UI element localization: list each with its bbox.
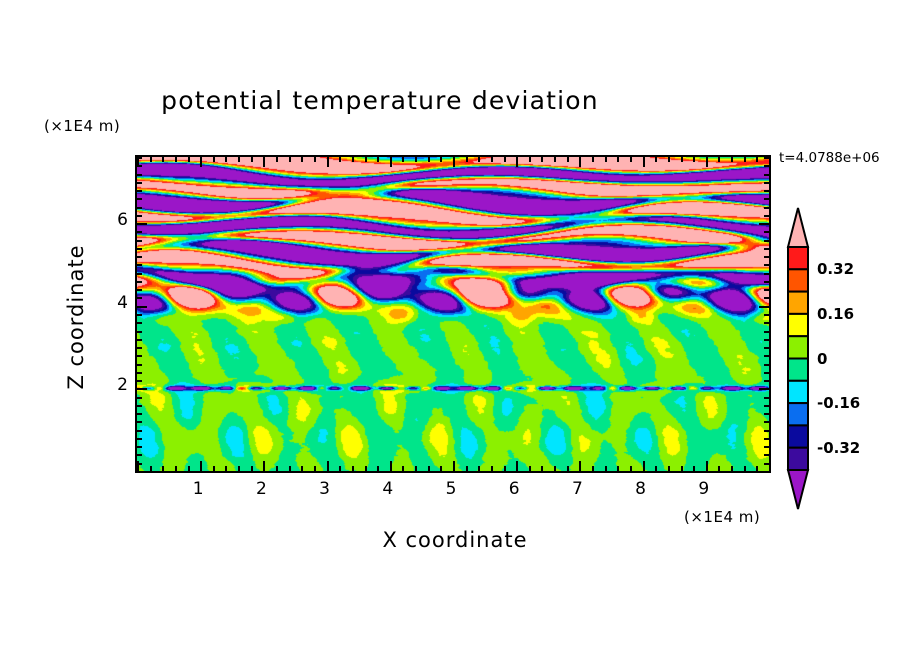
axis-tick (402, 466, 404, 471)
axis-tick (764, 454, 769, 456)
axis-tick (478, 466, 480, 471)
axis-tick (764, 430, 769, 432)
axis-tick (137, 264, 142, 266)
axis-tick (764, 322, 769, 324)
axis-tick (541, 157, 543, 162)
axis-tick (175, 157, 177, 162)
axis-tick (764, 446, 769, 448)
axis-tick (764, 240, 769, 242)
axis-tick (579, 157, 581, 167)
axis-tick (137, 273, 142, 275)
axis-tick (764, 215, 769, 217)
axis-tick (731, 157, 733, 162)
axis-tick (377, 466, 379, 471)
axis-tick (213, 157, 215, 162)
axis-tick (352, 466, 354, 471)
x-tick-label: 5 (436, 479, 466, 499)
axis-tick (137, 347, 142, 349)
axis-tick (137, 446, 142, 448)
axis-tick (764, 207, 769, 209)
axis-tick (137, 454, 142, 456)
axis-tick (693, 157, 695, 162)
axis-tick (759, 306, 769, 308)
axis-tick (137, 198, 142, 200)
x-axis-title: X coordinate (265, 528, 645, 552)
axis-tick (541, 466, 543, 471)
axis-tick (554, 466, 556, 471)
axis-tick (764, 463, 769, 465)
axis-tick (137, 174, 142, 176)
axis-tick (681, 466, 683, 471)
axis-tick (276, 466, 278, 471)
axis-tick (137, 215, 142, 217)
axis-tick (630, 157, 632, 162)
colorbar-tick-label: 0 (817, 350, 827, 368)
axis-tick (251, 466, 253, 471)
axis-tick (655, 466, 657, 471)
axis-tick (137, 240, 142, 242)
axis-tick (225, 157, 227, 162)
axis-tick (390, 157, 392, 167)
axis-tick (769, 157, 771, 167)
axis-tick (764, 157, 769, 159)
axis-tick (764, 347, 769, 349)
axis-tick (137, 438, 142, 440)
axis-tick (567, 157, 569, 162)
contour-field-canvas (137, 157, 769, 471)
axis-tick (579, 461, 581, 471)
axis-tick (764, 231, 769, 233)
axis-tick (150, 466, 152, 471)
axis-tick (137, 182, 142, 184)
axis-tick (415, 157, 417, 162)
colorbar[interactable] (786, 207, 810, 510)
axis-tick (352, 157, 354, 162)
axis-tick (769, 461, 771, 471)
x-tick-label: 8 (626, 479, 656, 499)
axis-tick (764, 421, 769, 423)
axis-tick (764, 372, 769, 374)
axis-tick (630, 466, 632, 471)
axis-tick (137, 430, 142, 432)
axis-tick (137, 405, 142, 407)
time-annotation: t=4.0788e+06 (779, 150, 880, 166)
colorbar-tick-label: -0.32 (817, 439, 860, 457)
axis-tick (263, 461, 265, 471)
axis-tick (764, 256, 769, 258)
axis-tick (175, 466, 177, 471)
axis-tick (605, 466, 607, 471)
axis-tick (301, 466, 303, 471)
axis-tick (428, 157, 430, 162)
x-tick-label: 1 (183, 479, 213, 499)
y-tick-label: 6 (104, 210, 128, 230)
axis-tick (238, 157, 240, 162)
axis-tick (428, 466, 430, 471)
colorbar-tick-label: -0.16 (817, 394, 860, 412)
axis-tick (162, 466, 164, 471)
axis-tick (137, 413, 142, 415)
y-tick-label: 2 (104, 375, 128, 395)
axis-tick (744, 466, 746, 471)
axis-tick (764, 405, 769, 407)
axis-tick (453, 461, 455, 471)
colorbar-tick-label: 0.16 (817, 305, 854, 323)
axis-tick (137, 207, 142, 209)
axis-tick (764, 397, 769, 399)
x-axis-units-label: (×1E4 m) (684, 508, 760, 526)
axis-tick (238, 466, 240, 471)
axis-tick (200, 157, 202, 167)
axis-tick (706, 461, 708, 471)
axis-tick (137, 256, 142, 258)
axis-tick (764, 281, 769, 283)
axis-tick (764, 364, 769, 366)
axis-tick (764, 413, 769, 415)
axis-tick (276, 157, 278, 162)
axis-tick (339, 157, 341, 162)
axis-tick (137, 339, 142, 341)
axis-tick (605, 157, 607, 162)
axis-tick (731, 466, 733, 471)
axis-tick (365, 466, 367, 471)
axis-tick (390, 461, 392, 471)
axis-tick (365, 157, 367, 162)
axis-tick (440, 157, 442, 162)
axis-tick (764, 165, 769, 167)
axis-tick (764, 264, 769, 266)
axis-tick (137, 306, 147, 308)
axis-tick (718, 157, 720, 162)
axis-tick (592, 157, 594, 162)
axis-tick (668, 157, 670, 162)
page-title: potential temperature deviation (0, 86, 760, 115)
axis-tick (402, 157, 404, 162)
axis-tick (466, 157, 468, 162)
axis-tick (491, 466, 493, 471)
axis-tick (668, 466, 670, 471)
axis-tick (314, 157, 316, 162)
axis-tick (137, 190, 142, 192)
axis-tick (440, 466, 442, 471)
axis-tick (137, 380, 142, 382)
colorbar-swatches (786, 207, 810, 510)
axis-tick (529, 157, 531, 162)
axis-tick (137, 248, 142, 250)
y-tick-label: 4 (104, 293, 128, 313)
axis-tick (756, 157, 758, 162)
axis-tick (150, 157, 152, 162)
axis-tick (137, 372, 142, 374)
axis-tick (764, 314, 769, 316)
x-tick-label: 4 (373, 479, 403, 499)
z-axis-units-label: (×1E4 m) (44, 117, 120, 135)
axis-tick (643, 461, 645, 471)
axis-tick (504, 466, 506, 471)
axis-tick (643, 157, 645, 167)
axis-tick (759, 388, 769, 390)
axis-tick (137, 397, 142, 399)
contour-plot-area[interactable] (135, 155, 771, 473)
axis-tick (764, 380, 769, 382)
axis-tick (213, 466, 215, 471)
axis-tick (188, 157, 190, 162)
axis-tick (137, 355, 142, 357)
axis-tick (327, 157, 329, 167)
axis-tick (764, 438, 769, 440)
axis-tick (567, 466, 569, 471)
axis-tick (301, 157, 303, 162)
axis-tick (693, 466, 695, 471)
axis-tick (764, 182, 769, 184)
axis-tick (137, 157, 142, 159)
axis-tick (188, 466, 190, 471)
axis-tick (137, 421, 142, 423)
axis-tick (314, 466, 316, 471)
axis-tick (137, 281, 142, 283)
axis-tick (263, 157, 265, 167)
axis-tick (764, 297, 769, 299)
axis-tick (764, 339, 769, 341)
x-tick-label: 6 (499, 479, 529, 499)
axis-tick (415, 466, 417, 471)
axis-tick (759, 471, 769, 473)
axis-tick (137, 463, 142, 465)
axis-tick (529, 466, 531, 471)
axis-tick (339, 466, 341, 471)
axis-tick (466, 466, 468, 471)
axis-tick (744, 157, 746, 162)
x-tick-label: 7 (562, 479, 592, 499)
axis-tick (504, 157, 506, 162)
axis-tick (137, 314, 142, 316)
axis-tick (764, 355, 769, 357)
axis-tick (453, 157, 455, 167)
axis-tick (554, 157, 556, 162)
axis-tick (137, 165, 142, 167)
axis-tick (516, 461, 518, 471)
x-tick-label: 9 (689, 479, 719, 499)
axis-tick (478, 157, 480, 162)
colorbar-tick-label: 0.32 (817, 260, 854, 278)
axis-tick (592, 466, 594, 471)
axis-tick (137, 471, 147, 473)
axis-tick (137, 388, 147, 390)
axis-tick (617, 157, 619, 162)
axis-tick (137, 322, 142, 324)
axis-tick (516, 157, 518, 167)
axis-tick (137, 289, 142, 291)
axis-tick (289, 466, 291, 471)
axis-tick (655, 157, 657, 162)
axis-tick (681, 157, 683, 162)
axis-tick (764, 198, 769, 200)
axis-tick (137, 364, 142, 366)
axis-tick (327, 461, 329, 471)
axis-tick (137, 223, 147, 225)
y-axis-title: Z coordinate (64, 197, 88, 437)
axis-tick (162, 157, 164, 162)
x-tick-label: 2 (246, 479, 276, 499)
axis-tick (377, 157, 379, 162)
axis-tick (137, 331, 142, 333)
axis-tick (137, 231, 142, 233)
axis-tick (289, 157, 291, 162)
axis-tick (617, 466, 619, 471)
axis-tick (764, 273, 769, 275)
axis-tick (225, 466, 227, 471)
x-tick-label: 3 (310, 479, 340, 499)
axis-tick (764, 174, 769, 176)
axis-tick (706, 157, 708, 167)
axis-tick (764, 289, 769, 291)
axis-tick (759, 223, 769, 225)
axis-tick (251, 157, 253, 162)
axis-tick (764, 331, 769, 333)
axis-tick (200, 461, 202, 471)
axis-tick (491, 157, 493, 162)
axis-tick (764, 248, 769, 250)
axis-tick (137, 297, 142, 299)
axis-tick (764, 190, 769, 192)
axis-tick (718, 466, 720, 471)
